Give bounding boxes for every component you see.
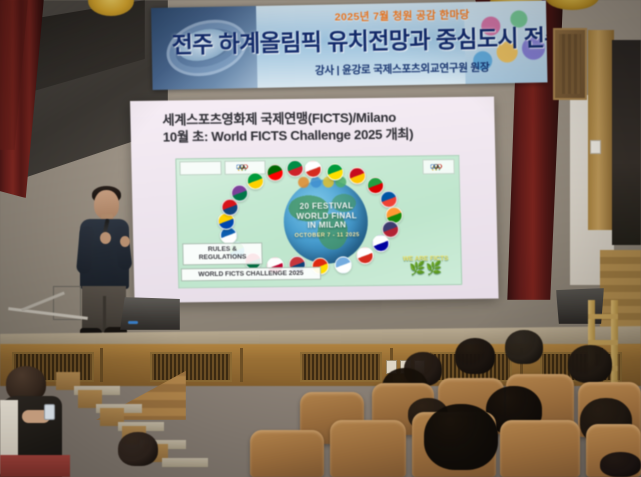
flag-italy <box>286 160 303 177</box>
auditorium-photo: 2025년 7월 청원 공감 한마당 전주 하계올림픽 유치전망과 중심도시 전… <box>0 0 641 477</box>
olympic-rings-icon <box>237 164 253 170</box>
ficts-circles-logo-icon <box>295 173 357 191</box>
slide-title-line1: 세계스포츠영화제 국제연맹(FICTS)/Milano <box>162 110 396 128</box>
audience-head <box>424 404 498 470</box>
stage-front-grille <box>300 352 382 382</box>
flag-iran <box>367 177 384 194</box>
presenter-leg-gap <box>103 296 106 330</box>
flag-ring <box>176 156 458 159</box>
audience-head <box>600 452 641 477</box>
graphic-center-text: 20 FESTIVAL WORLD FINAL IN MILAN OCTOBER… <box>275 201 378 240</box>
auditorium-stairs <box>56 372 174 477</box>
flag-portugal <box>266 164 283 181</box>
sponsor-logo-icon <box>179 161 221 176</box>
flag-russia <box>356 247 373 264</box>
slide-graphic: 20 FESTIVAL WORLD FINAL IN MILAN OCTOBER… <box>175 155 462 288</box>
auditorium-seat[interactable] <box>330 420 406 477</box>
projection-screen: 세계스포츠영화제 국제연맹(FICTS)/Milano 10월 초: World… <box>130 97 499 303</box>
audience-head <box>505 330 543 364</box>
doorway-dark <box>612 40 641 245</box>
auditorium-seat[interactable] <box>250 430 324 477</box>
rules-regulations-label: RULES & REGULATIONS <box>182 242 263 265</box>
audience-head <box>568 345 612 383</box>
audience-head <box>455 338 495 374</box>
slide-title: 세계스포츠영화제 국제연맹(FICTS)/Milano 10월 초: World… <box>162 109 483 147</box>
ficts-corner-logo-icon <box>422 159 454 174</box>
stair-tread <box>162 458 208 467</box>
festival-date: OCTOBER 7 - 11 2025 <box>276 232 378 240</box>
flag-jamaica <box>247 172 264 189</box>
slide-title-line2: 10월 초: World FICTS Challenge 2025 개최) <box>163 126 483 147</box>
screen-surface: 세계스포츠영화제 국제연맹(FICTS)/Milano 10월 초: World… <box>130 97 499 303</box>
banner-title: 전주 하계올림픽 유치전망과 중심도시 전주의 역할 <box>171 18 544 59</box>
wall-wood-vent <box>553 28 587 100</box>
door-frame-column <box>588 30 614 230</box>
stage-monitor-speaker-left <box>120 297 180 330</box>
flag-brazil <box>326 163 343 180</box>
festival-line-1: 20 FESTIVAL <box>300 201 354 211</box>
flag-spain <box>349 167 366 184</box>
festival-line-2: WORLD FINAL <box>296 211 357 221</box>
auditorium-seat-red[interactable] <box>0 455 70 477</box>
flag-slovenia <box>372 235 389 252</box>
laurel-wreath-icon: 🌿🌿 <box>397 262 455 274</box>
flag-france <box>380 191 397 208</box>
audience-head <box>118 432 158 466</box>
event-banner: 2025년 7월 청원 공감 한마당 전주 하계올림픽 유치전망과 중심도시 전… <box>151 0 548 90</box>
ficts-rings-icon <box>431 164 447 170</box>
presenter-hand-right <box>120 236 130 247</box>
smartphone-icon[interactable] <box>44 404 55 420</box>
auditorium-seat[interactable] <box>500 420 580 477</box>
flag-south-africa <box>231 185 248 202</box>
presenter-hand-left <box>100 232 111 244</box>
world-ficts-challenge-label: WORLD FICTS CHALLENGE 2025 <box>181 267 321 282</box>
we-are-ficts-logo: WE ARE FICTS 🌿🌿 <box>397 255 455 274</box>
ladder-rung <box>588 314 618 319</box>
flag-chile <box>304 161 321 178</box>
festival-line-3: IN MILAN <box>307 221 346 230</box>
flag-argentina <box>335 256 352 273</box>
light-switch[interactable] <box>590 140 601 154</box>
stage-panel-seam <box>240 348 243 382</box>
